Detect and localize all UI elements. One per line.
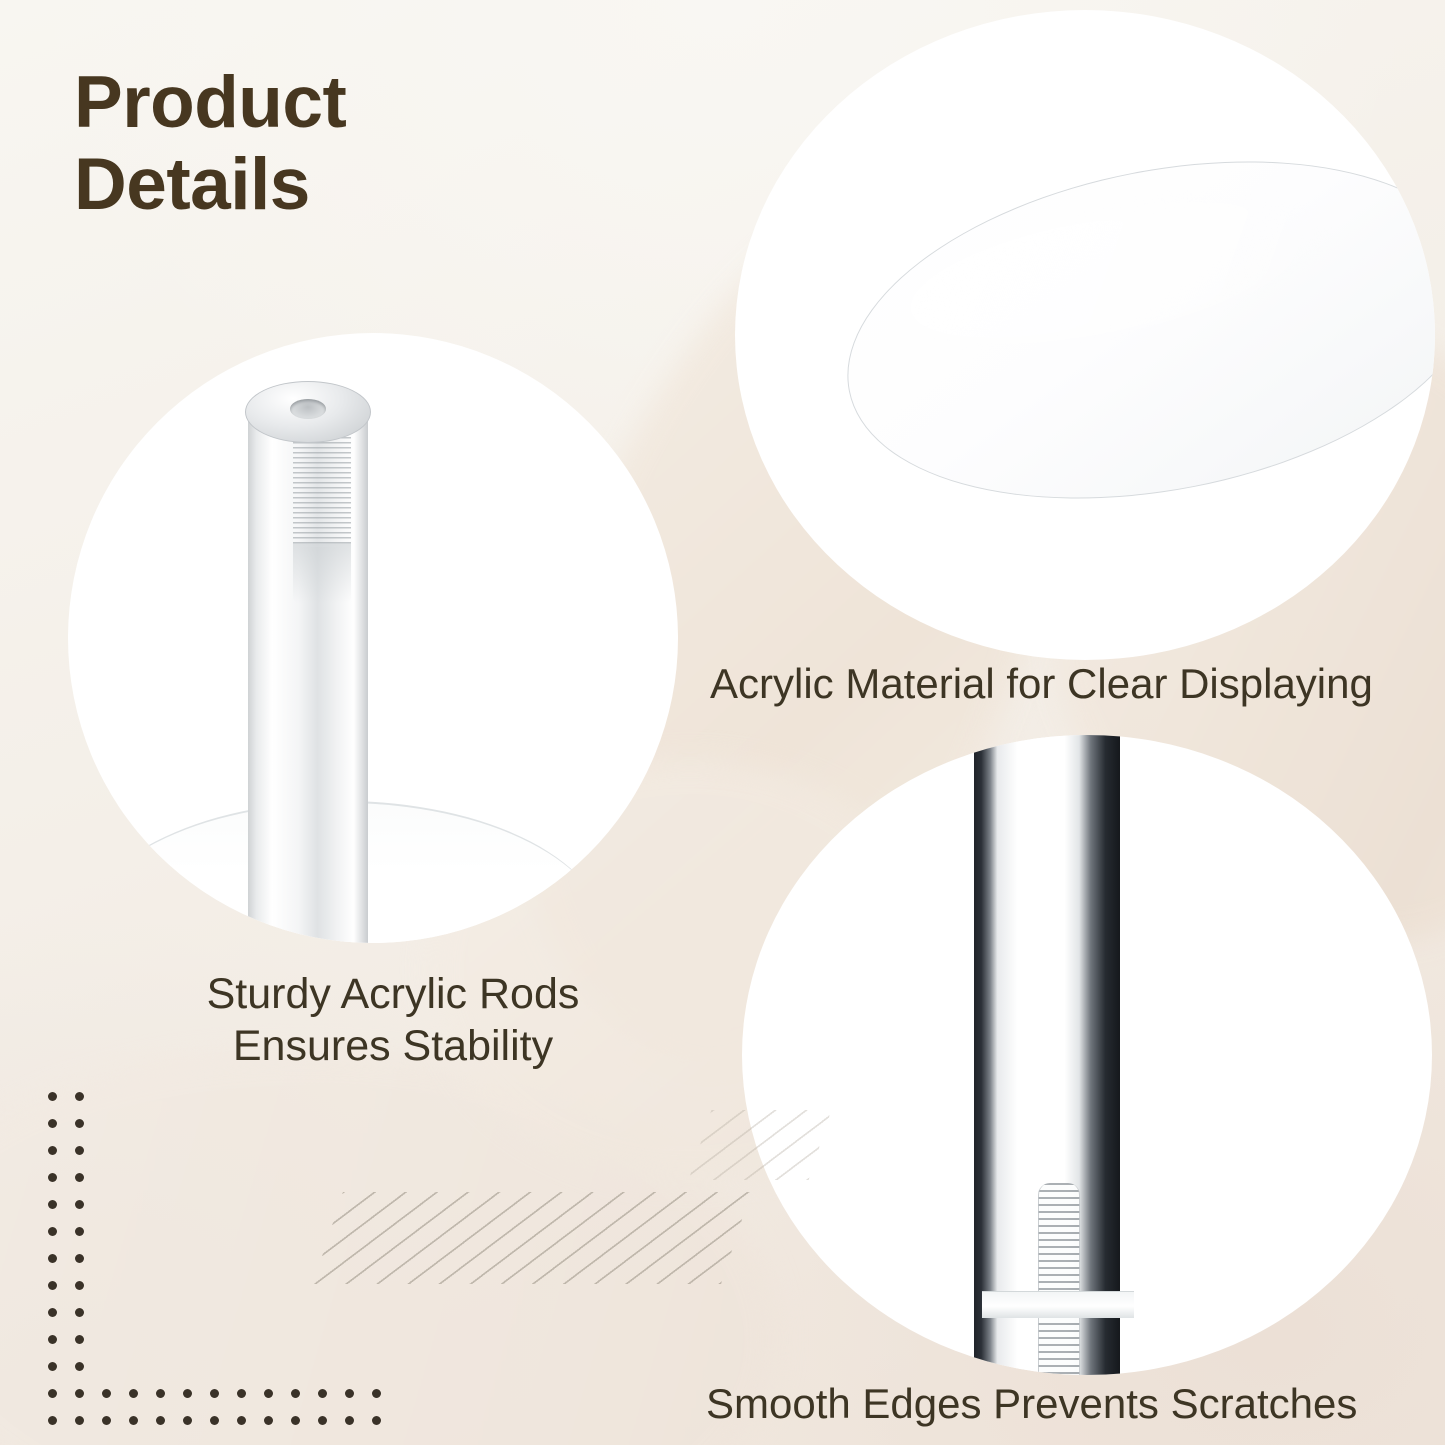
decor-dot <box>75 1281 84 1290</box>
decor-dot <box>102 1389 111 1398</box>
decor-dot <box>210 1389 219 1398</box>
decor-dot <box>345 1416 354 1425</box>
diagonal-hatch-decoration-small <box>689 1110 832 1180</box>
decor-dot <box>264 1389 273 1398</box>
decor-dot <box>48 1416 57 1425</box>
decor-dot <box>48 1119 57 1128</box>
decor-dot <box>48 1389 57 1398</box>
decor-dot <box>75 1227 84 1236</box>
decor-dot <box>156 1416 165 1425</box>
feature-image-clip-sturdy-rods <box>68 333 678 943</box>
decor-dot <box>318 1416 327 1425</box>
decor-dot <box>183 1416 192 1425</box>
rod-internal-thread-fade <box>293 543 351 603</box>
diagonal-hatch-decoration <box>313 1192 751 1284</box>
decor-dot <box>75 1416 84 1425</box>
decor-dot <box>48 1173 57 1182</box>
product-details-infographic: Product Details Sturdy Acrylic Rods Ensu… <box>0 0 1445 1445</box>
decor-dot <box>48 1227 57 1236</box>
decor-dot <box>75 1254 84 1263</box>
decor-dot <box>75 1119 84 1128</box>
decor-dot <box>318 1389 327 1398</box>
decor-dot <box>372 1389 381 1398</box>
decor-dot <box>75 1362 84 1371</box>
decor-dot <box>75 1308 84 1317</box>
decor-dot <box>237 1389 246 1398</box>
acrylic-rod-screw-hole <box>290 399 326 419</box>
page-title: Product Details <box>74 62 594 226</box>
decor-dot <box>48 1281 57 1290</box>
decor-dot <box>48 1308 57 1317</box>
decor-dot <box>291 1389 300 1398</box>
decor-dot <box>48 1335 57 1344</box>
decor-dot <box>75 1173 84 1182</box>
feature-caption-sturdy-rods: Sturdy Acrylic Rods Ensures Stability <box>133 968 653 1073</box>
decor-dot <box>264 1416 273 1425</box>
decor-dot <box>75 1092 84 1101</box>
decor-dot <box>345 1389 354 1398</box>
decor-dot <box>183 1389 192 1398</box>
feature-caption-smooth-edges: Smooth Edges Prevents Scratches <box>706 1378 1445 1429</box>
decor-dot <box>75 1146 84 1155</box>
decor-dot <box>75 1389 84 1398</box>
decor-dot <box>129 1389 138 1398</box>
feature-image-acrylic-material <box>735 10 1435 660</box>
decor-dot <box>210 1416 219 1425</box>
decor-dot <box>102 1416 111 1425</box>
decor-dot <box>372 1416 381 1425</box>
decor-dot <box>48 1200 57 1209</box>
decor-dot <box>48 1146 57 1155</box>
feature-image-clip-acrylic-material <box>735 10 1435 660</box>
decor-dot <box>48 1362 57 1371</box>
feature-image-clip-smooth-edges <box>742 735 1432 1375</box>
rod-base-collar <box>982 1291 1134 1318</box>
decor-dot <box>48 1092 57 1101</box>
acrylic-disc-top-surface <box>818 112 1435 548</box>
feature-image-sturdy-rods <box>68 333 678 943</box>
feature-image-smooth-edges <box>742 735 1432 1375</box>
threaded-screw <box>1038 1183 1080 1375</box>
decor-dot <box>75 1200 84 1209</box>
decor-dot <box>156 1389 165 1398</box>
feature-caption-acrylic-material: Acrylic Material for Clear Displaying <box>710 658 1440 709</box>
decor-dot <box>237 1416 246 1425</box>
decor-dot <box>48 1254 57 1263</box>
decor-dot <box>291 1416 300 1425</box>
decor-dot <box>129 1416 138 1425</box>
decor-dot <box>75 1335 84 1344</box>
